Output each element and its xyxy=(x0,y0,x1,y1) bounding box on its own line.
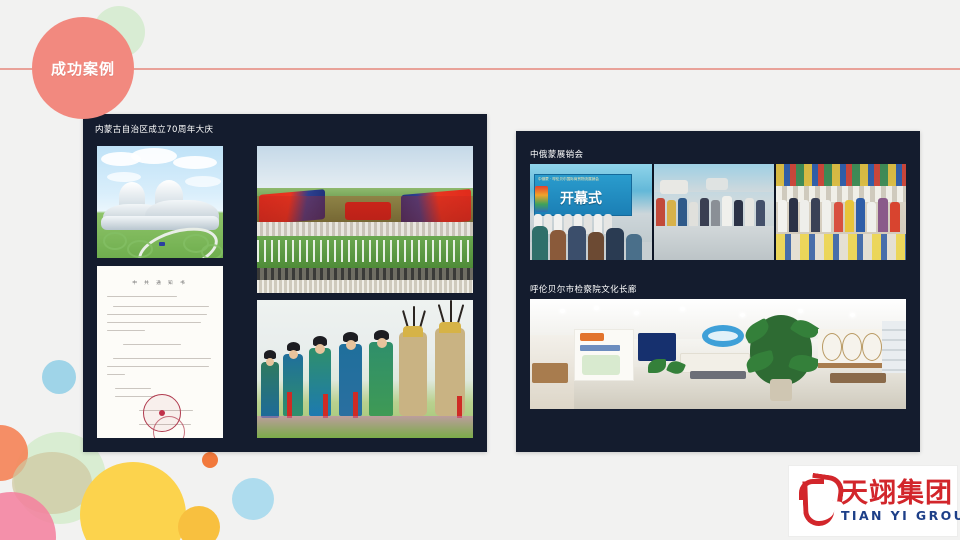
photo-expo-opening-ceremony[interactable]: 中俄蒙 · 呼伦贝尔国际商贸物流展销会 开幕式 xyxy=(530,164,652,260)
photo-folk-performers[interactable] xyxy=(257,300,473,438)
circle-yellow-large xyxy=(80,462,186,540)
company-logo: 天翊集团 TIAN YI GROUP xyxy=(789,466,957,536)
circle-blue-bottom xyxy=(232,478,274,520)
circle-orange-left xyxy=(0,425,28,481)
circle-blue-mid-left xyxy=(42,360,76,394)
photo-procuratorate-corridor[interactable] xyxy=(530,299,906,409)
circle-pink-bottom-left xyxy=(0,492,56,540)
photo-expo-market-booths[interactable] xyxy=(776,164,906,260)
logo-chinese-name: 天翊集团 xyxy=(841,480,960,507)
header-accent-line xyxy=(0,68,960,70)
page-title: 成功案例 xyxy=(51,58,115,79)
case-panel-expo-and-corridor[interactable]: 中俄蒙展销会 中俄蒙 · 呼伦贝尔国际商贸物流展销会 开幕式 xyxy=(516,131,920,452)
circle-orange-dot xyxy=(202,452,218,468)
photo-mass-ceremony[interactable] xyxy=(257,146,473,293)
photo-strip-expo[interactable]: 中俄蒙 · 呼伦贝尔国际商贸物流展销会 开幕式 xyxy=(530,164,906,260)
circle-yellow-small xyxy=(178,506,220,540)
tianyi-brand-mark-icon xyxy=(795,475,841,527)
photo-expo-visitors-walkway[interactable] xyxy=(654,164,774,260)
case-panel-inner-mongolia[interactable]: 内蒙古自治区成立70周年大庆 xyxy=(83,114,487,452)
page-title-bubble: 成功案例 xyxy=(32,17,134,119)
circle-khaki-left xyxy=(12,452,92,514)
photo-official-certificate[interactable]: 中 共 通 知 书 xyxy=(97,266,223,438)
panel-left-label: 内蒙古自治区成立70周年大庆 xyxy=(95,123,213,135)
panel-right-label-expo: 中俄蒙展销会 xyxy=(530,148,583,160)
logo-english-name: TIAN YI GROUP xyxy=(841,510,960,523)
panel-right-label-corridor: 呼伦贝尔市检察院文化长廊 xyxy=(530,283,637,295)
slide-canvas: 成功案例 内蒙古自治区成立70周年大庆 xyxy=(0,0,960,540)
photo-airport-architecture[interactable] xyxy=(97,146,223,258)
